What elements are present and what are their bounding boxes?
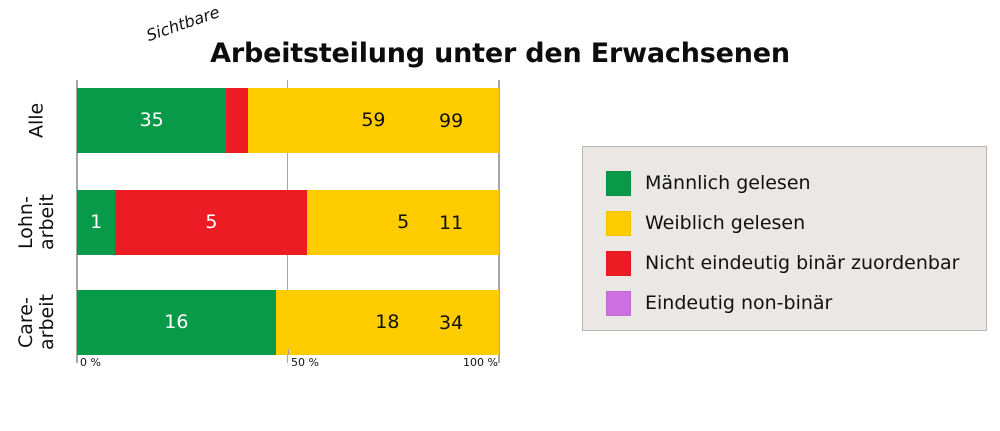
legend-label: Nicht eindeutig binär zuordenbar bbox=[645, 252, 959, 274]
bar-segment-value: 16 bbox=[164, 313, 188, 332]
legend-swatch-icon bbox=[606, 171, 631, 196]
chart-canvas: Sichtbare Arbeitsteilung unter den Erwac… bbox=[0, 0, 1000, 431]
legend-item[interactable]: Weiblich gelesen bbox=[606, 203, 986, 243]
x-axis-tick-label: 50 % bbox=[291, 356, 319, 369]
bar-total-label: 34 bbox=[430, 290, 500, 355]
y-axis-label-2: Lohn- arbeit bbox=[2, 190, 72, 255]
x-axis-tick-mark bbox=[288, 349, 289, 355]
bar-segment-value: 1 bbox=[90, 213, 102, 232]
bar-segment: 5 bbox=[115, 190, 307, 255]
bar-segment: 35 bbox=[77, 88, 226, 153]
bar-total-label: 11 bbox=[430, 190, 500, 255]
x-axis-tick-label: 0 % bbox=[80, 356, 101, 369]
bar-segment: 1 bbox=[77, 190, 115, 255]
bar-segment-value: 35 bbox=[140, 111, 164, 130]
chart-title-block: Sichtbare Arbeitsteilung unter den Erwac… bbox=[0, 18, 1000, 64]
legend-items: Männlich gelesenWeiblich gelesenNicht ei… bbox=[606, 163, 986, 323]
legend-box: Männlich gelesenWeiblich gelesenNicht ei… bbox=[582, 146, 987, 331]
y-axis-label-3: Care- arbeit bbox=[2, 290, 72, 355]
legend-swatch-icon bbox=[606, 291, 631, 316]
legend-label: Eindeutig non-binär bbox=[645, 292, 832, 314]
y-axis-label-1: Alle bbox=[2, 88, 72, 153]
x-axis-tick-label: 100 % bbox=[463, 356, 498, 369]
legend-label: Männlich gelesen bbox=[645, 172, 811, 194]
bar-segment-value: 5 bbox=[205, 213, 217, 232]
legend-swatch-icon bbox=[606, 251, 631, 276]
legend-item[interactable]: Nicht eindeutig binär zuordenbar bbox=[606, 243, 986, 283]
bar-total-label: 99 bbox=[430, 88, 500, 153]
chart-title: Arbeitsteilung unter den Erwachsenen bbox=[0, 38, 1000, 70]
bar-segment-value: 5 bbox=[397, 213, 409, 232]
bar-segment-value: 59 bbox=[361, 111, 385, 130]
legend-label: Weiblich gelesen bbox=[645, 212, 805, 234]
bar-segment bbox=[226, 88, 248, 153]
legend-item[interactable]: Männlich gelesen bbox=[606, 163, 986, 203]
legend-swatch-icon bbox=[606, 211, 631, 236]
legend-item[interactable]: Eindeutig non-binär bbox=[606, 283, 986, 323]
bar-segment-value: 18 bbox=[375, 313, 399, 332]
bar-segment: 16 bbox=[77, 290, 276, 355]
